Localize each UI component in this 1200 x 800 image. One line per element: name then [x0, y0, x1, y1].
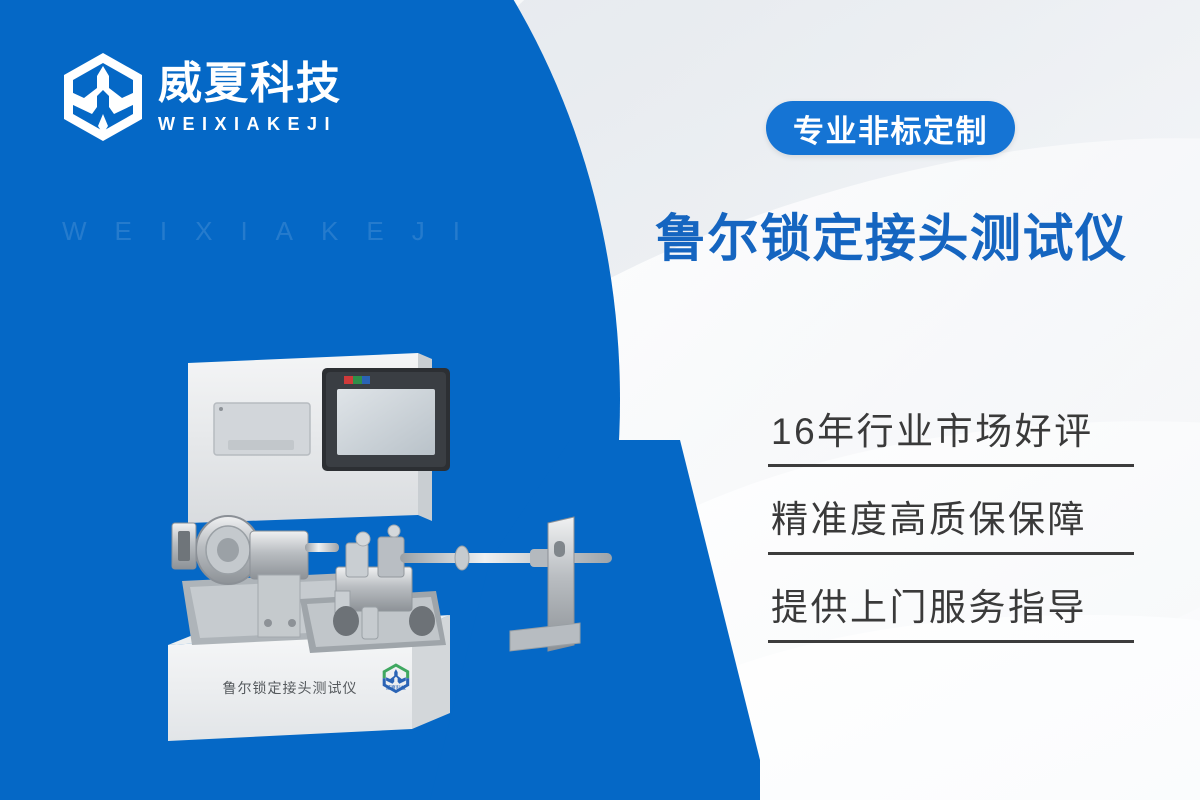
badge-custom-service: 专业非标定制	[766, 101, 1015, 155]
svg-text:鲁尔锁定接头测试仪: 鲁尔锁定接头测试仪	[223, 680, 358, 696]
feature-text-2: 精准度高质保保障	[768, 495, 1134, 552]
feature-divider-1	[768, 464, 1134, 467]
hexagon-shield-arrow-logo	[62, 52, 144, 142]
brand-logo: 威夏科技 WEIXIAKEJI	[62, 52, 342, 142]
feature-text-1: 16年行业市场好评	[768, 407, 1134, 464]
background-watermark: WEIXIAKEJI	[62, 216, 488, 247]
feature-divider-2	[768, 552, 1134, 555]
feature-divider-3	[768, 640, 1134, 643]
feature-item-1: 16年行业市场好评	[768, 407, 1134, 467]
feature-item-3: 提供上门服务指导	[768, 583, 1134, 643]
brand-name-cn: 威夏科技	[158, 62, 342, 106]
product-machine-image: 鲁尔锁定接头测试仪 威夏科技	[150, 345, 620, 765]
page-title: 鲁尔锁定接头测试仪	[655, 197, 1128, 271]
feature-item-2: 精准度高质保保障	[768, 495, 1134, 555]
svg-text:威夏科技: 威夏科技	[386, 685, 406, 692]
brand-text: 威夏科技 WEIXIAKEJI	[158, 62, 342, 133]
feature-text-3: 提供上门服务指导	[768, 583, 1134, 640]
feature-list: 16年行业市场好评 精准度高质保保障 提供上门服务指导	[768, 407, 1134, 671]
badge-label: 专业非标定制	[793, 106, 988, 151]
marketing-banner: WEIXIAKEJI 威夏科技 WEIXIAKEJI	[0, 0, 1200, 800]
brand-name-en: WEIXIAKEJI	[158, 115, 342, 133]
